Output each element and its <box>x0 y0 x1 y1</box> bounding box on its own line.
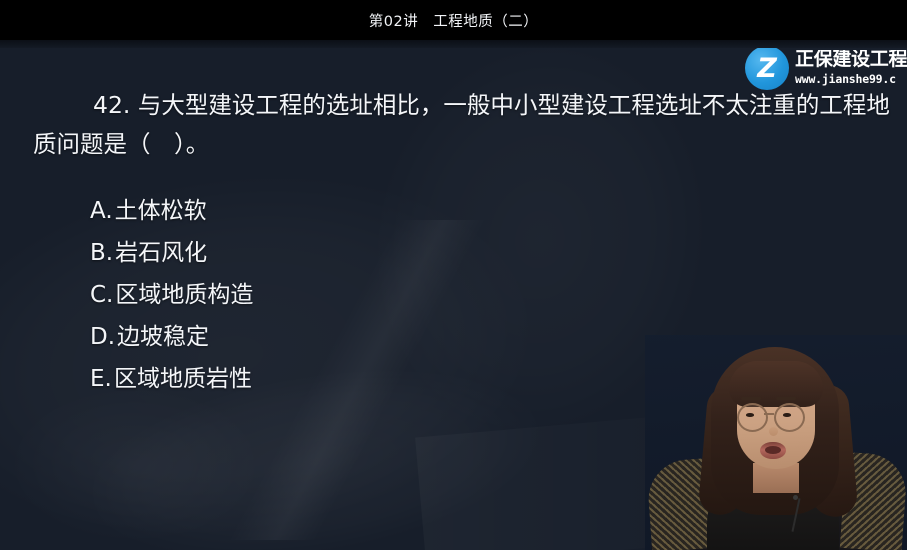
presenter-nose <box>769 427 778 436</box>
option-b-letter: B. <box>90 232 113 274</box>
presenter-eye-right <box>783 413 791 417</box>
question-text: 42. 与大型建设工程的选址相比，一般中小型建设工程选址不太注重的工程地质问题是… <box>33 86 895 164</box>
lecture-title-text: 第02讲 工程地质（二） <box>369 10 538 31</box>
brand-logo-text: 正保建设工程教 www.jianshe99.c <box>795 50 907 86</box>
brand-website-url: www.jianshe99.c <box>795 72 907 86</box>
options-list: A.土体松软 B.岩石风化 C.区域地质构造 D.边坡稳定 E.区域地质岩性 <box>90 190 253 400</box>
brand-logo-z-icon: Z <box>745 46 789 90</box>
option-d-letter: D. <box>90 316 115 358</box>
option-c-letter: C. <box>90 274 113 316</box>
option-e-text: 区域地质岩性 <box>114 366 252 392</box>
logo-z-glyph: Z <box>745 46 789 90</box>
presenter-video-inset <box>645 335 907 550</box>
option-c-text: 区域地质构造 <box>115 282 253 308</box>
option-b: B.岩石风化 <box>90 232 253 274</box>
option-a: A.土体松软 <box>90 190 253 232</box>
option-d: D.边坡稳定 <box>90 316 253 358</box>
presenter-eyebrow-right <box>776 397 796 400</box>
option-a-letter: A. <box>90 190 113 232</box>
option-e-letter: E. <box>90 358 112 400</box>
option-d-text: 边坡稳定 <box>117 324 209 350</box>
presenter-eye-left <box>746 413 754 417</box>
option-e: E.区域地质岩性 <box>90 358 253 400</box>
presenter-glasses-bridge <box>764 413 774 415</box>
presenter-eyebrow-left <box>741 397 761 400</box>
option-a-text: 土体松软 <box>115 198 207 224</box>
title-bar-shadow-band <box>0 40 907 48</box>
option-b-text: 岩石风化 <box>115 240 207 266</box>
slide-area: Z 正保建设工程教 www.jianshe99.c 42. 与大型建设工程的选址… <box>0 40 907 550</box>
presenter-glasses-lens-left <box>737 403 768 432</box>
presenter-mouth-inner <box>765 446 781 454</box>
brand-name-cn: 正保建设工程教 <box>795 50 907 70</box>
option-c: C.区域地质构造 <box>90 274 253 316</box>
brand-logo: Z 正保建设工程教 www.jianshe99.c <box>745 46 907 90</box>
presenter-hair-fringe <box>729 361 823 407</box>
lecture-video-frame: 第02讲 工程地质（二） Z 正保建设工程教 www.jianshe99.c 4… <box>0 0 907 550</box>
presenter-glasses-lens-right <box>774 403 805 432</box>
lecture-title-bar: 第02讲 工程地质（二） <box>0 0 907 40</box>
